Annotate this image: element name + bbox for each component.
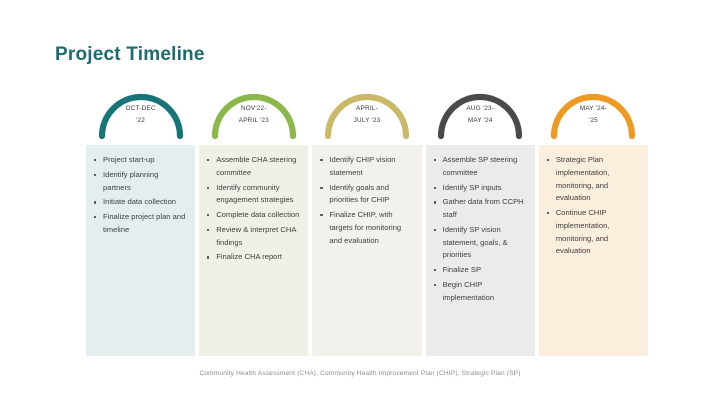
phase-arc: NOV'22-APRIL '23 [199,88,308,140]
page-title: Project Timeline [55,44,205,66]
list-item: Finalize CHIP, with targets for monitori… [318,209,414,247]
phase-arc: AUG '23-MAY '24 [426,88,535,140]
phase-panel: Assemble SP steering committeeIdentify S… [426,145,535,356]
timeline-phase: MAY '24-'25Strategic Plan implementation… [539,88,648,356]
phase-panel: Identify CHIP vision statementIdentify g… [312,145,421,356]
list-item: Begin CHIP implementation [432,279,528,305]
phase-task-list: Assemble SP steering committeeIdentify S… [432,154,528,304]
list-item: Strategic Plan implementation, monitorin… [545,154,641,205]
phase-task-list: Strategic Plan implementation, monitorin… [545,154,641,258]
phase-panel: Assemble CHA steering committeeIdentify … [199,145,308,356]
phase-arc: MAY '24-'25 [539,88,648,140]
list-item: Finalize CHA report [205,251,301,264]
arc-icon [319,88,415,140]
list-item: Identify goals and priorities for CHIP [318,182,414,208]
list-item: Gather data from CCPH staff [432,196,528,222]
phase-arc: OCT-DEC'22 [86,88,195,140]
phase-task-list: Project start-upIdentify planning partne… [92,154,188,237]
phase-panel: Strategic Plan implementation, monitorin… [539,145,648,356]
list-item: Identify planning partners [92,169,188,195]
list-item: Initiate data collection [92,196,188,209]
timeline-phase: OCT-DEC'22Project start-upIdentify plann… [86,88,195,356]
list-item: Identify CHIP vision statement [318,154,414,180]
list-item: Complete data collection [205,209,301,222]
phase-arc: APRIL-JULY '23 [312,88,421,140]
arc-icon [432,88,528,140]
timeline-phase: APRIL-JULY '23Identify CHIP vision state… [312,88,421,356]
list-item: Project start-up [92,154,188,167]
timeline-phases: OCT-DEC'22Project start-upIdentify plann… [86,88,648,356]
list-item: Finalize SP [432,264,528,277]
footnote-legend: Community Health Assessment (CHA), Commu… [0,370,720,377]
timeline-slide: Project Timeline OCT-DEC'22Project start… [0,0,720,404]
list-item: Identify SP inputs [432,182,528,195]
list-item: Finalize project plan and timeline [92,211,188,237]
list-item: Assemble SP steering committee [432,154,528,180]
list-item: Identify SP vision statement, goals, & p… [432,224,528,262]
phase-panel: Project start-upIdentify planning partne… [86,145,195,356]
arc-icon [545,88,641,140]
list-item: Review & interpret CHA findings [205,224,301,250]
timeline-phase: AUG '23-MAY '24Assemble SP steering comm… [426,88,535,356]
list-item: Identify community engagement strategies [205,182,301,208]
arc-icon [206,88,302,140]
arc-icon [93,88,189,140]
phase-task-list: Assemble CHA steering committeeIdentify … [205,154,301,264]
list-item: Continue CHIP implementation, monitoring… [545,207,641,258]
list-item: Assemble CHA steering committee [205,154,301,180]
timeline-phase: NOV'22-APRIL '23Assemble CHA steering co… [199,88,308,356]
phase-task-list: Identify CHIP vision statementIdentify g… [318,154,414,247]
